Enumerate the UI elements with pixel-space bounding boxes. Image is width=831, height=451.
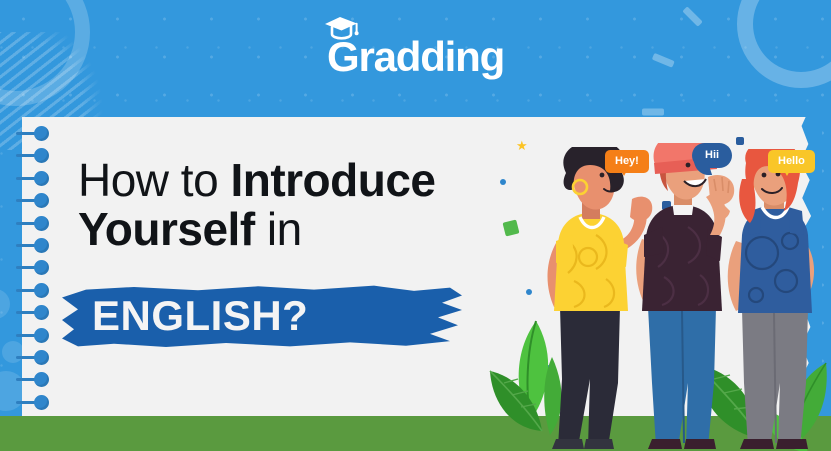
decorative-bubble-c [0, 289, 10, 319]
spiral-ring [16, 395, 60, 410]
headline: How to Introduce Yourself in [78, 156, 436, 254]
promo-banner: Gradding How to Introduce Yourself in EN… [0, 0, 831, 451]
headline-line2-regular: in [255, 203, 302, 255]
headline-line1-bold: Introduce [230, 154, 435, 206]
speech-bubble-hello: Hello [768, 150, 815, 173]
spiral-ring [16, 372, 60, 387]
spiral-ring [16, 193, 60, 208]
people-illustration: ★ ★ ★ ★ ★ ★ Hey! Hii Hello [480, 117, 831, 451]
spiral-ring [16, 126, 60, 141]
logo-wordmark: Gradding [327, 33, 504, 80]
spiral-ring [16, 350, 60, 365]
speech-bubble-hii: Hii [692, 143, 732, 168]
headline-line2-bold: Yourself [78, 203, 255, 255]
english-highlight-banner: ENGLISH? [62, 283, 462, 349]
spiral-ring [16, 216, 60, 231]
confetti-square [503, 220, 520, 237]
speech-bubble-hey: Hey! [605, 150, 649, 173]
spiral-ring [16, 171, 60, 186]
headline-line1-regular: How to [78, 154, 230, 206]
spiral-ring [16, 328, 60, 343]
character-woman-ginger [716, 149, 831, 451]
confetti-dot [500, 179, 506, 185]
brand-logo[interactable]: Gradding [0, 22, 831, 92]
headline-line-1: How to Introduce [78, 156, 436, 205]
spiral-ring [16, 260, 60, 275]
english-banner-text: ENGLISH? [62, 283, 462, 349]
spiral-binding [16, 126, 60, 410]
headline-line-2: Yourself in [78, 205, 436, 254]
spiral-ring [16, 283, 60, 298]
graduation-cap-icon [323, 14, 359, 40]
spiral-ring [16, 238, 60, 253]
spiral-ring [16, 305, 60, 320]
spiral-ring [16, 148, 60, 163]
